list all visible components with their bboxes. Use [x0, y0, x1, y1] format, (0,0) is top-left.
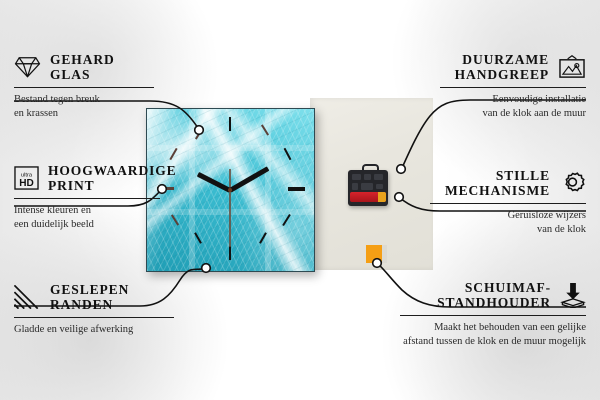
feature-title-line1: HOOGWAARDIGE: [48, 163, 177, 178]
feature-description: Intense kleuren en een duidelijk beeld: [14, 204, 160, 232]
diamond-icon: [14, 55, 41, 79]
feature-title-line1: STILLE: [445, 168, 550, 183]
feature-geslepen-randen: GESLEPEN RANDEN Gladde en veilige afwerk…: [14, 282, 174, 337]
feature-description: Geruisloze wijzers van de klok: [430, 209, 586, 237]
feature-title-line1: GEHARD: [50, 52, 115, 67]
feature-schuimaf-standhouder: SCHUIMAF- STANDHOUDER Maakt het behouden…: [400, 280, 586, 349]
ultra-hd-icon: ultra HD: [14, 166, 39, 190]
product-feature-infographic: GEHARD GLAS Bestand tegen breuk en krass…: [0, 0, 600, 400]
connector-dot-stille-mechanisme: [395, 193, 404, 202]
feature-divider: [14, 87, 154, 88]
feature-description: Bestand tegen breuk en krassen: [14, 93, 154, 121]
feature-description: Eenvoudige installatie van de klok aan d…: [440, 93, 586, 121]
feature-title-line2: GLAS: [50, 67, 115, 82]
feature-divider: [14, 198, 160, 199]
svg-text:HD: HD: [19, 178, 34, 189]
feature-hoogwaardige-print: ultra HD HOOGWAARDIGE PRINT Intense kleu…: [14, 163, 160, 232]
connector-dot-geslepen-randen: [202, 264, 211, 273]
framed-picture-icon: [558, 55, 586, 80]
feature-title-line2: HANDGREEP: [455, 67, 549, 82]
feature-stille-mechanisme: STILLE MECHANISME Geruisloze wijzers van…: [430, 168, 586, 237]
feature-title-line2: PRINT: [48, 178, 177, 193]
feature-title-line1: GESLEPEN: [50, 282, 129, 297]
feature-title-line1: SCHUIMAF-: [437, 280, 551, 295]
feature-divider: [440, 87, 586, 88]
feature-divider: [430, 203, 586, 204]
feature-divider: [14, 317, 174, 318]
feature-title-line2: RANDEN: [50, 297, 129, 312]
feature-description: Maakt het behouden van een gelijke afsta…: [400, 321, 586, 349]
connector-dot-duurzame-handgreep: [397, 165, 406, 174]
gear-icon: [559, 170, 586, 196]
feature-title-line2: STANDHOUDER: [437, 295, 551, 310]
feature-description: Gladde en veilige afwerking: [14, 323, 174, 337]
feature-gehard-glas: GEHARD GLAS Bestand tegen breuk en krass…: [14, 52, 154, 121]
feature-title-line1: DUURZAME: [455, 52, 549, 67]
feature-duurzame-handgreep: DUURZAME HANDGREEP Eenvoudige installati…: [440, 52, 586, 121]
beveled-edges-icon: [14, 285, 41, 309]
connector-dot-gehard-glas: [195, 126, 204, 135]
connector-dot-schuimaf-standhouder: [373, 259, 382, 268]
arrow-down-layers-icon: [560, 282, 586, 308]
feature-title-line2: MECHANISME: [445, 183, 550, 198]
feature-divider: [400, 315, 586, 316]
